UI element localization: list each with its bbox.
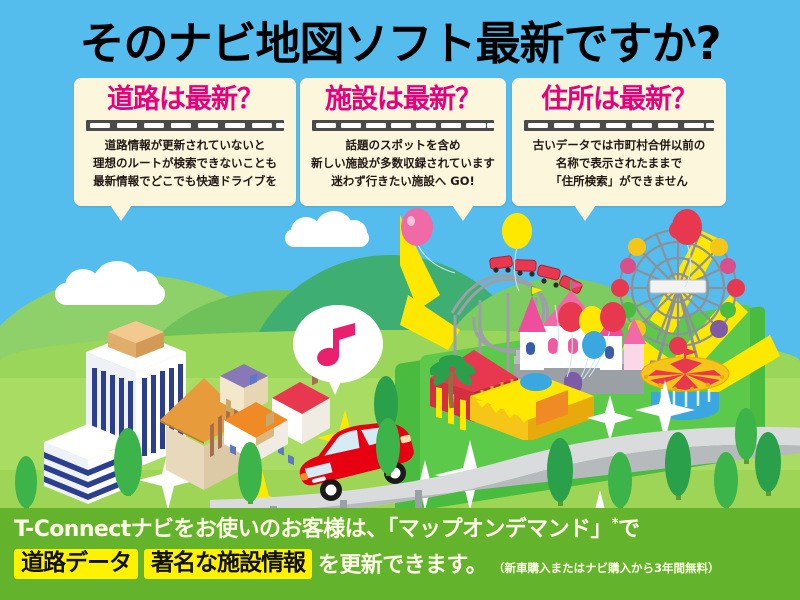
promo-banner: T-Connectナビをお使いのお客様は、「マップオンデマンド」*で 道路データ… bbox=[0, 508, 800, 600]
callout-address-line-2: 名称で表示されたままで bbox=[518, 155, 720, 173]
cypress-tree bbox=[547, 438, 573, 506]
callout-road-line-2: 理想のルートが検索できないことも bbox=[80, 155, 290, 173]
cypress-tree bbox=[114, 428, 142, 496]
road-divider-icon bbox=[312, 120, 494, 131]
callout-facility-heading: 施設は最新？ bbox=[306, 86, 500, 114]
callout-road-line-3: 最新情報でどこでも快適ドライブを bbox=[80, 173, 290, 191]
promo-banner-line-1-suffix: で bbox=[618, 517, 639, 542]
cypress-tree bbox=[714, 452, 738, 512]
callout-address-heading: 住所は最新？ bbox=[518, 86, 720, 114]
cypress-tree bbox=[15, 456, 37, 514]
road-divider-icon bbox=[86, 120, 284, 131]
page-title: そのナビ地図ソフト最新ですか? bbox=[0, 8, 800, 70]
cypress-tree bbox=[376, 418, 400, 476]
promo-banner-note: （新車購入またはナビ購入から3年間無料） bbox=[493, 560, 720, 579]
callout-road[interactable]: 道路は最新？ 道路情報が更新されていないと 理想のルートが検索できないことも 最… bbox=[74, 78, 296, 206]
promo-banner-line-1: T-Connectナビをお使いのお客様は、「マップオンデマンド」*で bbox=[14, 517, 786, 542]
cypress-tree bbox=[238, 442, 262, 504]
callout-group: 道路は最新？ 道路情報が更新されていないと 理想のルートが検索できないことも 最… bbox=[0, 78, 800, 213]
cypress-tree bbox=[665, 432, 691, 500]
callout-road-tail bbox=[110, 205, 132, 221]
chip-facility-info: 著名な施設情報 bbox=[144, 549, 312, 579]
cypress-tree bbox=[755, 432, 781, 496]
callout-facility-line-1: 話題のスポットを含め bbox=[306, 137, 500, 155]
tree-row bbox=[0, 300, 800, 515]
callout-facility-tail bbox=[452, 205, 474, 221]
road-divider-icon bbox=[524, 120, 714, 131]
callout-facility-line-2: 新しい施設が多数収録されています bbox=[306, 155, 500, 173]
chip-road-data: 道路データ bbox=[14, 549, 138, 579]
callout-road-line-1: 道路情報が更新されていないと bbox=[80, 137, 290, 155]
callout-address-tail bbox=[574, 205, 596, 221]
promo-banner-line-1-text: T-Connectナビをお使いのお客様は、「マップオンデマンド」 bbox=[14, 517, 612, 542]
callout-facility-line-3: 迷わず行きたい施設へ GO! bbox=[306, 173, 500, 191]
callout-address-line-3: 「住所検索」ができません bbox=[518, 173, 720, 191]
cypress-tree bbox=[735, 408, 757, 464]
callout-address[interactable]: 住所は最新？ 古いデータでは市町村合併以前の 名称で表示されたままで 「住所検索… bbox=[512, 78, 726, 206]
promo-banner-line-2: 道路データ 著名な施設情報 を更新できます。 （新車購入またはナビ購入から3年間… bbox=[14, 547, 786, 579]
promo-banner-tail: を更新できます。 bbox=[318, 547, 487, 579]
advertisement-canvas: そのナビ地図ソフト最新ですか? 道路は最新？ 道路情報が更新されていないと 理想… bbox=[0, 0, 800, 600]
cypress-tree bbox=[608, 452, 632, 512]
callout-facility[interactable]: 施設は最新？ 話題のスポットを含め 新しい施設が多数収録されています 迷わず行き… bbox=[300, 78, 506, 206]
callout-road-heading: 道路は最新？ bbox=[80, 86, 290, 114]
callout-address-line-1: 古いデータでは市町村合併以前の bbox=[518, 137, 720, 155]
